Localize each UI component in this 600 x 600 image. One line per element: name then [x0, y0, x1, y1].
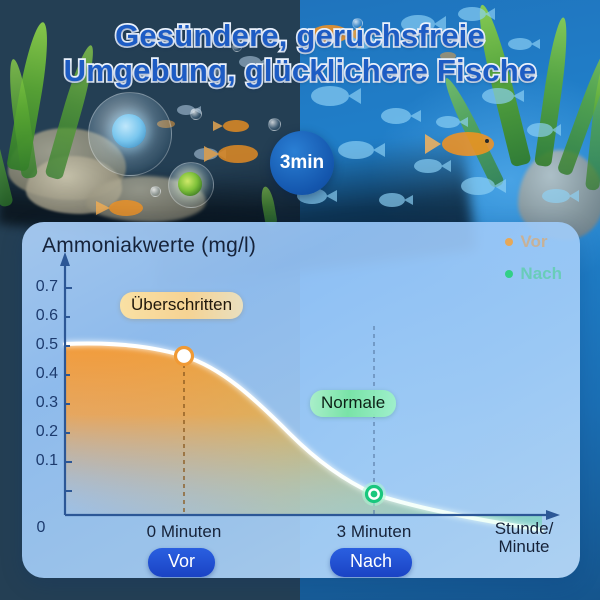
y-tick-label: 0.5 — [24, 336, 58, 354]
x-pill-vor: Vor — [148, 548, 215, 577]
y-axis-arrow — [60, 252, 70, 266]
bubble — [150, 186, 161, 197]
x-pill-nach: Nach — [330, 548, 412, 577]
x-tick-label-3-minuten: 3 Minuten — [304, 522, 444, 542]
headline: Gesündere, geruchsfreie Umgebung, glückl… — [0, 18, 600, 88]
chart-area-fill-tint — [65, 344, 542, 531]
x-axis-unit-label: Stunde/ Minute — [472, 520, 576, 556]
y-tick-label: 0.6 — [24, 307, 58, 325]
y-tick-label: 0.3 — [24, 394, 58, 412]
marker-ueberschritten — [176, 348, 193, 365]
x-axis-unit-line-2: Minute — [498, 537, 549, 556]
annotation-normale: Normale — [310, 390, 396, 417]
marker-normale-core — [371, 491, 378, 498]
y-tick-label: 0.7 — [24, 278, 58, 296]
bubble — [268, 118, 281, 131]
headline-line-2: Umgebung, glücklichere Fische — [0, 53, 600, 88]
x-tick-label-0-minuten: 0 Minuten — [114, 522, 254, 542]
promo-graphic: Gesündere, geruchsfreie Umgebung, glückl… — [0, 0, 600, 600]
algae-core — [178, 172, 202, 196]
headline-line-1: Gesündere, geruchsfreie — [0, 18, 600, 53]
timer-badge-label: 3min — [280, 152, 324, 174]
annotation-ueberschritten: Überschritten — [120, 292, 243, 319]
y-tick-label: 0 — [24, 519, 58, 537]
x-axis-unit-line-1: Stunde/ — [495, 519, 554, 538]
ammonia-chart-card: Ammoniakwerte (mg/l) Vor Nach — [22, 222, 580, 578]
timer-badge: 3min — [270, 131, 334, 195]
y-tick-label: 0.4 — [24, 365, 58, 383]
bubble — [190, 108, 202, 120]
y-tick-label: 0.2 — [24, 423, 58, 441]
algae-core — [112, 114, 146, 148]
y-tick-label: 0.1 — [24, 452, 58, 470]
